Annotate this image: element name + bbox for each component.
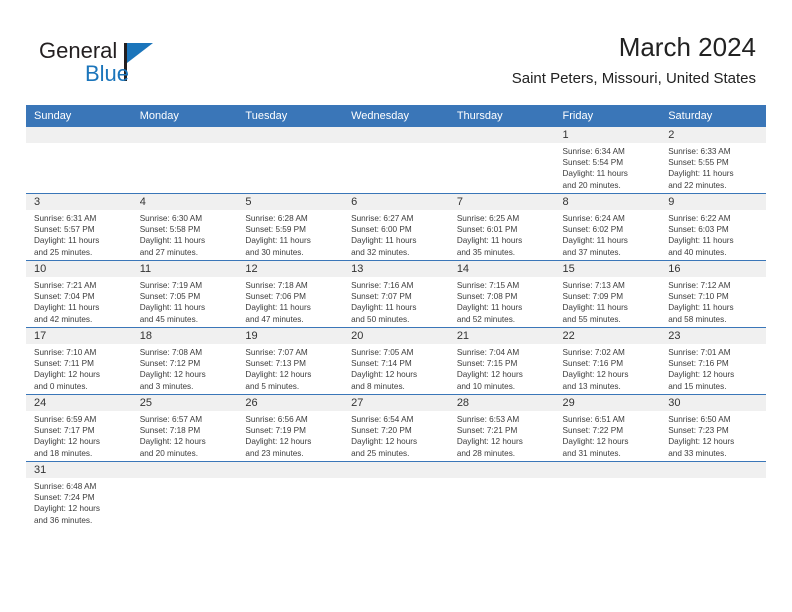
daylight-text-line2: and 13 minutes. — [563, 381, 655, 392]
brand-name-blue: Blue — [85, 61, 129, 87]
daylight-text-line2: and 25 minutes. — [34, 247, 126, 258]
daylight-text-line1: Daylight: 11 hours — [245, 302, 337, 313]
calendar-day-cell[interactable]: 13Sunrise: 7:16 AMSunset: 7:07 PMDayligh… — [343, 261, 449, 328]
sunset-text: Sunset: 7:21 PM — [457, 425, 549, 436]
sunrise-text: Sunrise: 7:04 AM — [457, 347, 549, 358]
calendar-day-cell[interactable]: 15Sunrise: 7:13 AMSunset: 7:09 PMDayligh… — [555, 261, 661, 328]
sunrise-text: Sunrise: 6:33 AM — [668, 146, 760, 157]
daylight-text-line1: Daylight: 11 hours — [140, 302, 232, 313]
daylight-text-line2: and 30 minutes. — [245, 247, 337, 258]
daylight-text-line2: and 42 minutes. — [34, 314, 126, 325]
sunrise-text: Sunrise: 6:57 AM — [140, 414, 232, 425]
daylight-text-line2: and 35 minutes. — [457, 247, 549, 258]
sunset-text: Sunset: 5:55 PM — [668, 157, 760, 168]
daylight-text-line2: and 20 minutes. — [563, 180, 655, 191]
daylight-text-line1: Daylight: 12 hours — [245, 436, 337, 447]
sunset-text: Sunset: 7:23 PM — [668, 425, 760, 436]
day-number: 16 — [660, 261, 766, 277]
sunset-text: Sunset: 7:14 PM — [351, 358, 443, 369]
sunrise-text: Sunrise: 7:13 AM — [563, 280, 655, 291]
daylight-text-line1: Daylight: 11 hours — [668, 235, 760, 246]
daylight-text-line2: and 20 minutes. — [140, 448, 232, 459]
daylight-text-line2: and 22 minutes. — [668, 180, 760, 191]
day-number: 10 — [26, 261, 132, 277]
calendar-day-cell[interactable] — [237, 127, 343, 194]
day-number — [343, 462, 449, 478]
day-number: 23 — [660, 328, 766, 344]
location-subtitle: Saint Peters, Missouri, United States — [512, 68, 756, 90]
sunset-text: Sunset: 7:19 PM — [245, 425, 337, 436]
daylight-text-line2: and 45 minutes. — [140, 314, 232, 325]
sunrise-text: Sunrise: 6:25 AM — [457, 213, 549, 224]
daylight-text-line1: Daylight: 12 hours — [351, 369, 443, 380]
day-number: 14 — [449, 261, 555, 277]
calendar-day-cell[interactable]: 26Sunrise: 6:56 AMSunset: 7:19 PMDayligh… — [237, 395, 343, 462]
calendar-day-cell[interactable]: 2Sunrise: 6:33 AMSunset: 5:55 PMDaylight… — [660, 127, 766, 194]
day-number: 4 — [132, 194, 238, 210]
sunset-text: Sunset: 7:13 PM — [245, 358, 337, 369]
sunset-text: Sunset: 7:16 PM — [668, 358, 760, 369]
day-number: 17 — [26, 328, 132, 344]
sunrise-text: Sunrise: 7:05 AM — [351, 347, 443, 358]
daylight-text-line2: and 32 minutes. — [351, 247, 443, 258]
sunrise-text: Sunrise: 6:22 AM — [668, 213, 760, 224]
day-number: 3 — [26, 194, 132, 210]
daylight-text-line1: Daylight: 11 hours — [457, 302, 549, 313]
calendar-day-cell[interactable] — [132, 127, 238, 194]
sunset-text: Sunset: 7:16 PM — [563, 358, 655, 369]
day-number: 21 — [449, 328, 555, 344]
daylight-text-line1: Daylight: 12 hours — [34, 369, 126, 380]
day-number: 19 — [237, 328, 343, 344]
daylight-text-line1: Daylight: 11 hours — [563, 168, 655, 179]
weekday-header-wednesday: Wednesday — [343, 105, 449, 127]
sunset-text: Sunset: 7:04 PM — [34, 291, 126, 302]
day-number: 22 — [555, 328, 661, 344]
daylight-text-line2: and 0 minutes. — [34, 381, 126, 392]
day-number — [449, 462, 555, 478]
sunrise-text: Sunrise: 7:08 AM — [140, 347, 232, 358]
calendar-day-cell[interactable]: 28Sunrise: 6:53 AMSunset: 7:21 PMDayligh… — [449, 395, 555, 462]
calendar-day-cell[interactable]: 30Sunrise: 6:50 AMSunset: 7:23 PMDayligh… — [660, 395, 766, 462]
day-number — [237, 462, 343, 478]
calendar-week-row: 3Sunrise: 6:31 AMSunset: 5:57 PMDaylight… — [26, 194, 766, 261]
daylight-text-line1: Daylight: 12 hours — [563, 436, 655, 447]
weekday-header-sunday: Sunday — [26, 105, 132, 127]
daylight-text-line1: Daylight: 12 hours — [457, 436, 549, 447]
day-number: 31 — [26, 462, 132, 478]
day-number — [660, 462, 766, 478]
calendar-week-row: 24Sunrise: 6:59 AMSunset: 7:17 PMDayligh… — [26, 395, 766, 462]
daylight-text-line2: and 27 minutes. — [140, 247, 232, 258]
sunrise-text: Sunrise: 6:59 AM — [34, 414, 126, 425]
calendar-day-cell[interactable]: 10Sunrise: 7:21 AMSunset: 7:04 PMDayligh… — [26, 261, 132, 328]
sunrise-text: Sunrise: 6:24 AM — [563, 213, 655, 224]
sunset-text: Sunset: 5:58 PM — [140, 224, 232, 235]
daylight-text-line2: and 8 minutes. — [351, 381, 443, 392]
calendar-day-cell[interactable]: 11Sunrise: 7:19 AMSunset: 7:05 PMDayligh… — [132, 261, 238, 328]
day-number: 29 — [555, 395, 661, 411]
flag-triangle-icon — [127, 43, 153, 63]
calendar-day-cell[interactable]: 21Sunrise: 7:04 AMSunset: 7:15 PMDayligh… — [449, 328, 555, 395]
calendar-week-row: 1Sunrise: 6:34 AMSunset: 5:54 PMDaylight… — [26, 127, 766, 194]
daylight-text-line1: Daylight: 12 hours — [457, 369, 549, 380]
day-number: 15 — [555, 261, 661, 277]
day-number: 9 — [660, 194, 766, 210]
daylight-text-line1: Daylight: 12 hours — [34, 503, 126, 514]
daylight-text-line2: and 15 minutes. — [668, 381, 760, 392]
day-number — [237, 127, 343, 143]
sunrise-text: Sunrise: 6:51 AM — [563, 414, 655, 425]
calendar-day-cell[interactable]: 9Sunrise: 6:22 AMSunset: 6:03 PMDaylight… — [660, 194, 766, 261]
sunset-text: Sunset: 7:05 PM — [140, 291, 232, 302]
weekday-header-tuesday: Tuesday — [237, 105, 343, 127]
weekday-header-friday: Friday — [555, 105, 661, 127]
calendar-day-cell[interactable]: 29Sunrise: 6:51 AMSunset: 7:22 PMDayligh… — [555, 395, 661, 462]
day-number — [132, 462, 238, 478]
calendar-day-cell[interactable]: 5Sunrise: 6:28 AMSunset: 5:59 PMDaylight… — [237, 194, 343, 261]
sunrise-text: Sunrise: 7:10 AM — [34, 347, 126, 358]
calendar-day-cell[interactable] — [343, 462, 449, 529]
sunrise-text: Sunrise: 6:31 AM — [34, 213, 126, 224]
daylight-text-line2: and 23 minutes. — [245, 448, 337, 459]
daylight-text-line1: Daylight: 11 hours — [245, 235, 337, 246]
daylight-text-line2: and 25 minutes. — [351, 448, 443, 459]
day-number: 27 — [343, 395, 449, 411]
sunset-text: Sunset: 7:08 PM — [457, 291, 549, 302]
calendar-day-cell[interactable] — [449, 462, 555, 529]
daylight-text-line2: and 52 minutes. — [457, 314, 549, 325]
sunset-text: Sunset: 7:20 PM — [351, 425, 443, 436]
sunset-text: Sunset: 7:24 PM — [34, 492, 126, 503]
daylight-text-line1: Daylight: 11 hours — [34, 235, 126, 246]
calendar-day-cell[interactable]: 27Sunrise: 6:54 AMSunset: 7:20 PMDayligh… — [343, 395, 449, 462]
daylight-text-line2: and 37 minutes. — [563, 247, 655, 258]
sunset-text: Sunset: 7:11 PM — [34, 358, 126, 369]
daylight-text-line1: Daylight: 12 hours — [140, 436, 232, 447]
page-header: General Blue March 2024 Saint Peters, Mi… — [0, 0, 792, 104]
general-blue-logo[interactable]: General Blue — [39, 38, 239, 90]
daylight-text-line2: and 40 minutes. — [668, 247, 760, 258]
day-number: 8 — [555, 194, 661, 210]
sunrise-text: Sunrise: 6:34 AM — [563, 146, 655, 157]
daylight-text-line1: Daylight: 12 hours — [563, 369, 655, 380]
calendar-day-cell[interactable] — [449, 127, 555, 194]
day-number: 20 — [343, 328, 449, 344]
sunrise-text: Sunrise: 7:02 AM — [563, 347, 655, 358]
daylight-text-line2: and 5 minutes. — [245, 381, 337, 392]
sunset-text: Sunset: 5:54 PM — [563, 157, 655, 168]
day-number: 18 — [132, 328, 238, 344]
daylight-text-line1: Daylight: 12 hours — [140, 369, 232, 380]
sunrise-text: Sunrise: 7:21 AM — [34, 280, 126, 291]
calendar-day-cell[interactable] — [26, 127, 132, 194]
weekday-header-monday: Monday — [132, 105, 238, 127]
daylight-text-line2: and 28 minutes. — [457, 448, 549, 459]
calendar-day-cell[interactable] — [555, 462, 661, 529]
calendar-day-cell[interactable] — [237, 462, 343, 529]
daylight-text-line1: Daylight: 11 hours — [140, 235, 232, 246]
day-number: 24 — [26, 395, 132, 411]
day-number — [26, 127, 132, 143]
daylight-text-line1: Daylight: 12 hours — [34, 436, 126, 447]
daylight-text-line2: and 33 minutes. — [668, 448, 760, 459]
calendar-week-row: 10Sunrise: 7:21 AMSunset: 7:04 PMDayligh… — [26, 261, 766, 328]
sunrise-text: Sunrise: 6:48 AM — [34, 481, 126, 492]
sunrise-text: Sunrise: 6:53 AM — [457, 414, 549, 425]
sunset-text: Sunset: 7:15 PM — [457, 358, 549, 369]
sunset-text: Sunset: 6:00 PM — [351, 224, 443, 235]
calendar-week-row: 17Sunrise: 7:10 AMSunset: 7:11 PMDayligh… — [26, 328, 766, 395]
sunset-text: Sunset: 7:17 PM — [34, 425, 126, 436]
sunset-text: Sunset: 7:22 PM — [563, 425, 655, 436]
calendar-day-cell[interactable]: 8Sunrise: 6:24 AMSunset: 6:02 PMDaylight… — [555, 194, 661, 261]
calendar-day-cell[interactable]: 4Sunrise: 6:30 AMSunset: 5:58 PMDaylight… — [132, 194, 238, 261]
daylight-text-line1: Daylight: 11 hours — [563, 235, 655, 246]
calendar-day-cell[interactable]: 25Sunrise: 6:57 AMSunset: 7:18 PMDayligh… — [132, 395, 238, 462]
weekday-header-row: Sunday Monday Tuesday Wednesday Thursday… — [26, 105, 766, 127]
daylight-text-line1: Daylight: 11 hours — [34, 302, 126, 313]
sunset-text: Sunset: 6:01 PM — [457, 224, 549, 235]
sunset-text: Sunset: 7:12 PM — [140, 358, 232, 369]
day-number: 6 — [343, 194, 449, 210]
day-number: 2 — [660, 127, 766, 143]
daylight-text-line1: Daylight: 11 hours — [668, 302, 760, 313]
day-number: 26 — [237, 395, 343, 411]
calendar-day-cell[interactable] — [343, 127, 449, 194]
calendar-day-cell[interactable]: 23Sunrise: 7:01 AMSunset: 7:16 PMDayligh… — [660, 328, 766, 395]
calendar-header-row: Sunday Monday Tuesday Wednesday Thursday… — [26, 105, 766, 127]
calendar-day-cell[interactable]: 17Sunrise: 7:10 AMSunset: 7:11 PMDayligh… — [26, 328, 132, 395]
daylight-text-line1: Daylight: 11 hours — [351, 235, 443, 246]
calendar-day-cell[interactable]: 1Sunrise: 6:34 AMSunset: 5:54 PMDaylight… — [555, 127, 661, 194]
calendar-week-row: 31Sunrise: 6:48 AMSunset: 7:24 PMDayligh… — [26, 462, 766, 529]
day-number: 11 — [132, 261, 238, 277]
sunrise-text: Sunrise: 6:50 AM — [668, 414, 760, 425]
calendar-day-cell[interactable]: 24Sunrise: 6:59 AMSunset: 7:17 PMDayligh… — [26, 395, 132, 462]
calendar-day-cell[interactable] — [660, 462, 766, 529]
day-number: 30 — [660, 395, 766, 411]
sunrise-text: Sunrise: 6:56 AM — [245, 414, 337, 425]
daylight-text-line2: and 18 minutes. — [34, 448, 126, 459]
sunset-text: Sunset: 6:02 PM — [563, 224, 655, 235]
day-number: 1 — [555, 127, 661, 143]
day-number: 28 — [449, 395, 555, 411]
daylight-text-line2: and 31 minutes. — [563, 448, 655, 459]
sunrise-text: Sunrise: 6:27 AM — [351, 213, 443, 224]
sunset-text: Sunset: 7:18 PM — [140, 425, 232, 436]
day-number: 25 — [132, 395, 238, 411]
daylight-text-line1: Daylight: 11 hours — [563, 302, 655, 313]
weekday-header-saturday: Saturday — [660, 105, 766, 127]
page-title: March 2024 — [512, 30, 756, 64]
sunset-text: Sunset: 7:10 PM — [668, 291, 760, 302]
calendar-day-cell[interactable]: 22Sunrise: 7:02 AMSunset: 7:16 PMDayligh… — [555, 328, 661, 395]
daylight-text-line2: and 36 minutes. — [34, 515, 126, 526]
calendar-body: 1Sunrise: 6:34 AMSunset: 5:54 PMDaylight… — [26, 127, 766, 528]
calendar-day-cell[interactable]: 19Sunrise: 7:07 AMSunset: 7:13 PMDayligh… — [237, 328, 343, 395]
title-block: March 2024 Saint Peters, Missouri, Unite… — [512, 30, 756, 90]
sunset-text: Sunset: 7:06 PM — [245, 291, 337, 302]
daylight-text-line2: and 3 minutes. — [140, 381, 232, 392]
daylight-text-line1: Daylight: 12 hours — [668, 436, 760, 447]
weekday-header-thursday: Thursday — [449, 105, 555, 127]
daylight-text-line2: and 47 minutes. — [245, 314, 337, 325]
calendar-day-cell[interactable]: 14Sunrise: 7:15 AMSunset: 7:08 PMDayligh… — [449, 261, 555, 328]
calendar-day-cell[interactable]: 16Sunrise: 7:12 AMSunset: 7:10 PMDayligh… — [660, 261, 766, 328]
sunrise-sunset-calendar-table: Sunday Monday Tuesday Wednesday Thursday… — [26, 105, 766, 528]
sunset-text: Sunset: 7:07 PM — [351, 291, 443, 302]
sunrise-text: Sunrise: 7:15 AM — [457, 280, 549, 291]
daylight-text-line1: Daylight: 12 hours — [245, 369, 337, 380]
day-number — [449, 127, 555, 143]
daylight-text-line2: and 10 minutes. — [457, 381, 549, 392]
daylight-text-line1: Daylight: 12 hours — [351, 436, 443, 447]
sunrise-text: Sunrise: 7:19 AM — [140, 280, 232, 291]
calendar-day-cell[interactable]: 31Sunrise: 6:48 AMSunset: 7:24 PMDayligh… — [26, 462, 132, 529]
sunrise-text: Sunrise: 7:16 AM — [351, 280, 443, 291]
daylight-text-line1: Daylight: 12 hours — [668, 369, 760, 380]
daylight-text-line1: Daylight: 11 hours — [668, 168, 760, 179]
sunrise-text: Sunrise: 7:07 AM — [245, 347, 337, 358]
sunrise-text: Sunrise: 7:01 AM — [668, 347, 760, 358]
day-number: 12 — [237, 261, 343, 277]
sunrise-text: Sunrise: 7:12 AM — [668, 280, 760, 291]
calendar-page: General Blue March 2024 Saint Peters, Mi… — [0, 0, 792, 612]
daylight-text-line1: Daylight: 11 hours — [351, 302, 443, 313]
calendar-day-cell[interactable]: 3Sunrise: 6:31 AMSunset: 5:57 PMDaylight… — [26, 194, 132, 261]
sunrise-text: Sunrise: 6:30 AM — [140, 213, 232, 224]
calendar-day-cell[interactable]: 20Sunrise: 7:05 AMSunset: 7:14 PMDayligh… — [343, 328, 449, 395]
sunrise-text: Sunrise: 6:54 AM — [351, 414, 443, 425]
daylight-text-line2: and 58 minutes. — [668, 314, 760, 325]
calendar-day-cell[interactable]: 18Sunrise: 7:08 AMSunset: 7:12 PMDayligh… — [132, 328, 238, 395]
day-number: 5 — [237, 194, 343, 210]
daylight-text-line2: and 55 minutes. — [563, 314, 655, 325]
sunset-text: Sunset: 6:03 PM — [668, 224, 760, 235]
calendar-day-cell[interactable]: 6Sunrise: 6:27 AMSunset: 6:00 PMDaylight… — [343, 194, 449, 261]
sunrise-text: Sunrise: 6:28 AM — [245, 213, 337, 224]
sunset-text: Sunset: 5:59 PM — [245, 224, 337, 235]
day-number — [555, 462, 661, 478]
sunrise-text: Sunrise: 7:18 AM — [245, 280, 337, 291]
daylight-text-line2: and 50 minutes. — [351, 314, 443, 325]
sunset-text: Sunset: 5:57 PM — [34, 224, 126, 235]
day-number: 13 — [343, 261, 449, 277]
calendar-day-cell[interactable] — [132, 462, 238, 529]
calendar-day-cell[interactable]: 12Sunrise: 7:18 AMSunset: 7:06 PMDayligh… — [237, 261, 343, 328]
calendar-day-cell[interactable]: 7Sunrise: 6:25 AMSunset: 6:01 PMDaylight… — [449, 194, 555, 261]
day-number — [132, 127, 238, 143]
sunset-text: Sunset: 7:09 PM — [563, 291, 655, 302]
daylight-text-line1: Daylight: 11 hours — [457, 235, 549, 246]
day-number: 7 — [449, 194, 555, 210]
day-number — [343, 127, 449, 143]
